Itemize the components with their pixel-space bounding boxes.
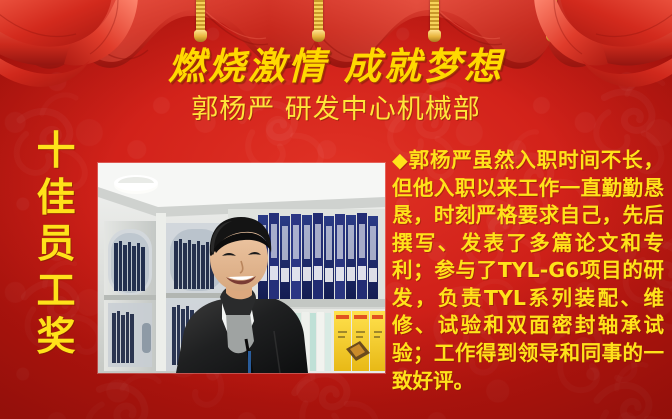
award-vertical-label: 十 佳 员 工 奖 [28,130,84,395]
gold-tassel-icon-3 [430,0,439,34]
award-char-1: 十 [36,130,75,173]
employee-description-text: ◆郭杨严虽然入职时间不长，但他入职以来工作一直勤勤恳恳，时刻严格要求自己，先后撰… [392,147,664,395]
award-char-3: 员 [36,223,75,266]
gold-tassel-icon-1 [196,0,205,34]
award-poster: 燃烧激情 成就梦想 郭杨严 研发中心机械部 十 佳 员 工 奖 [0,0,672,419]
employee-photo-image [98,163,385,373]
gold-tassel-icon-2 [314,0,323,34]
award-char-5: 奖 [36,316,75,359]
award-char-4: 工 [36,270,75,313]
page-title: 燃烧激情 成就梦想 [0,36,672,90]
award-char-2: 佳 [36,177,75,220]
employee-photo [98,163,385,373]
subtitle-name-department: 郭杨严 研发中心机械部 [0,87,672,126]
